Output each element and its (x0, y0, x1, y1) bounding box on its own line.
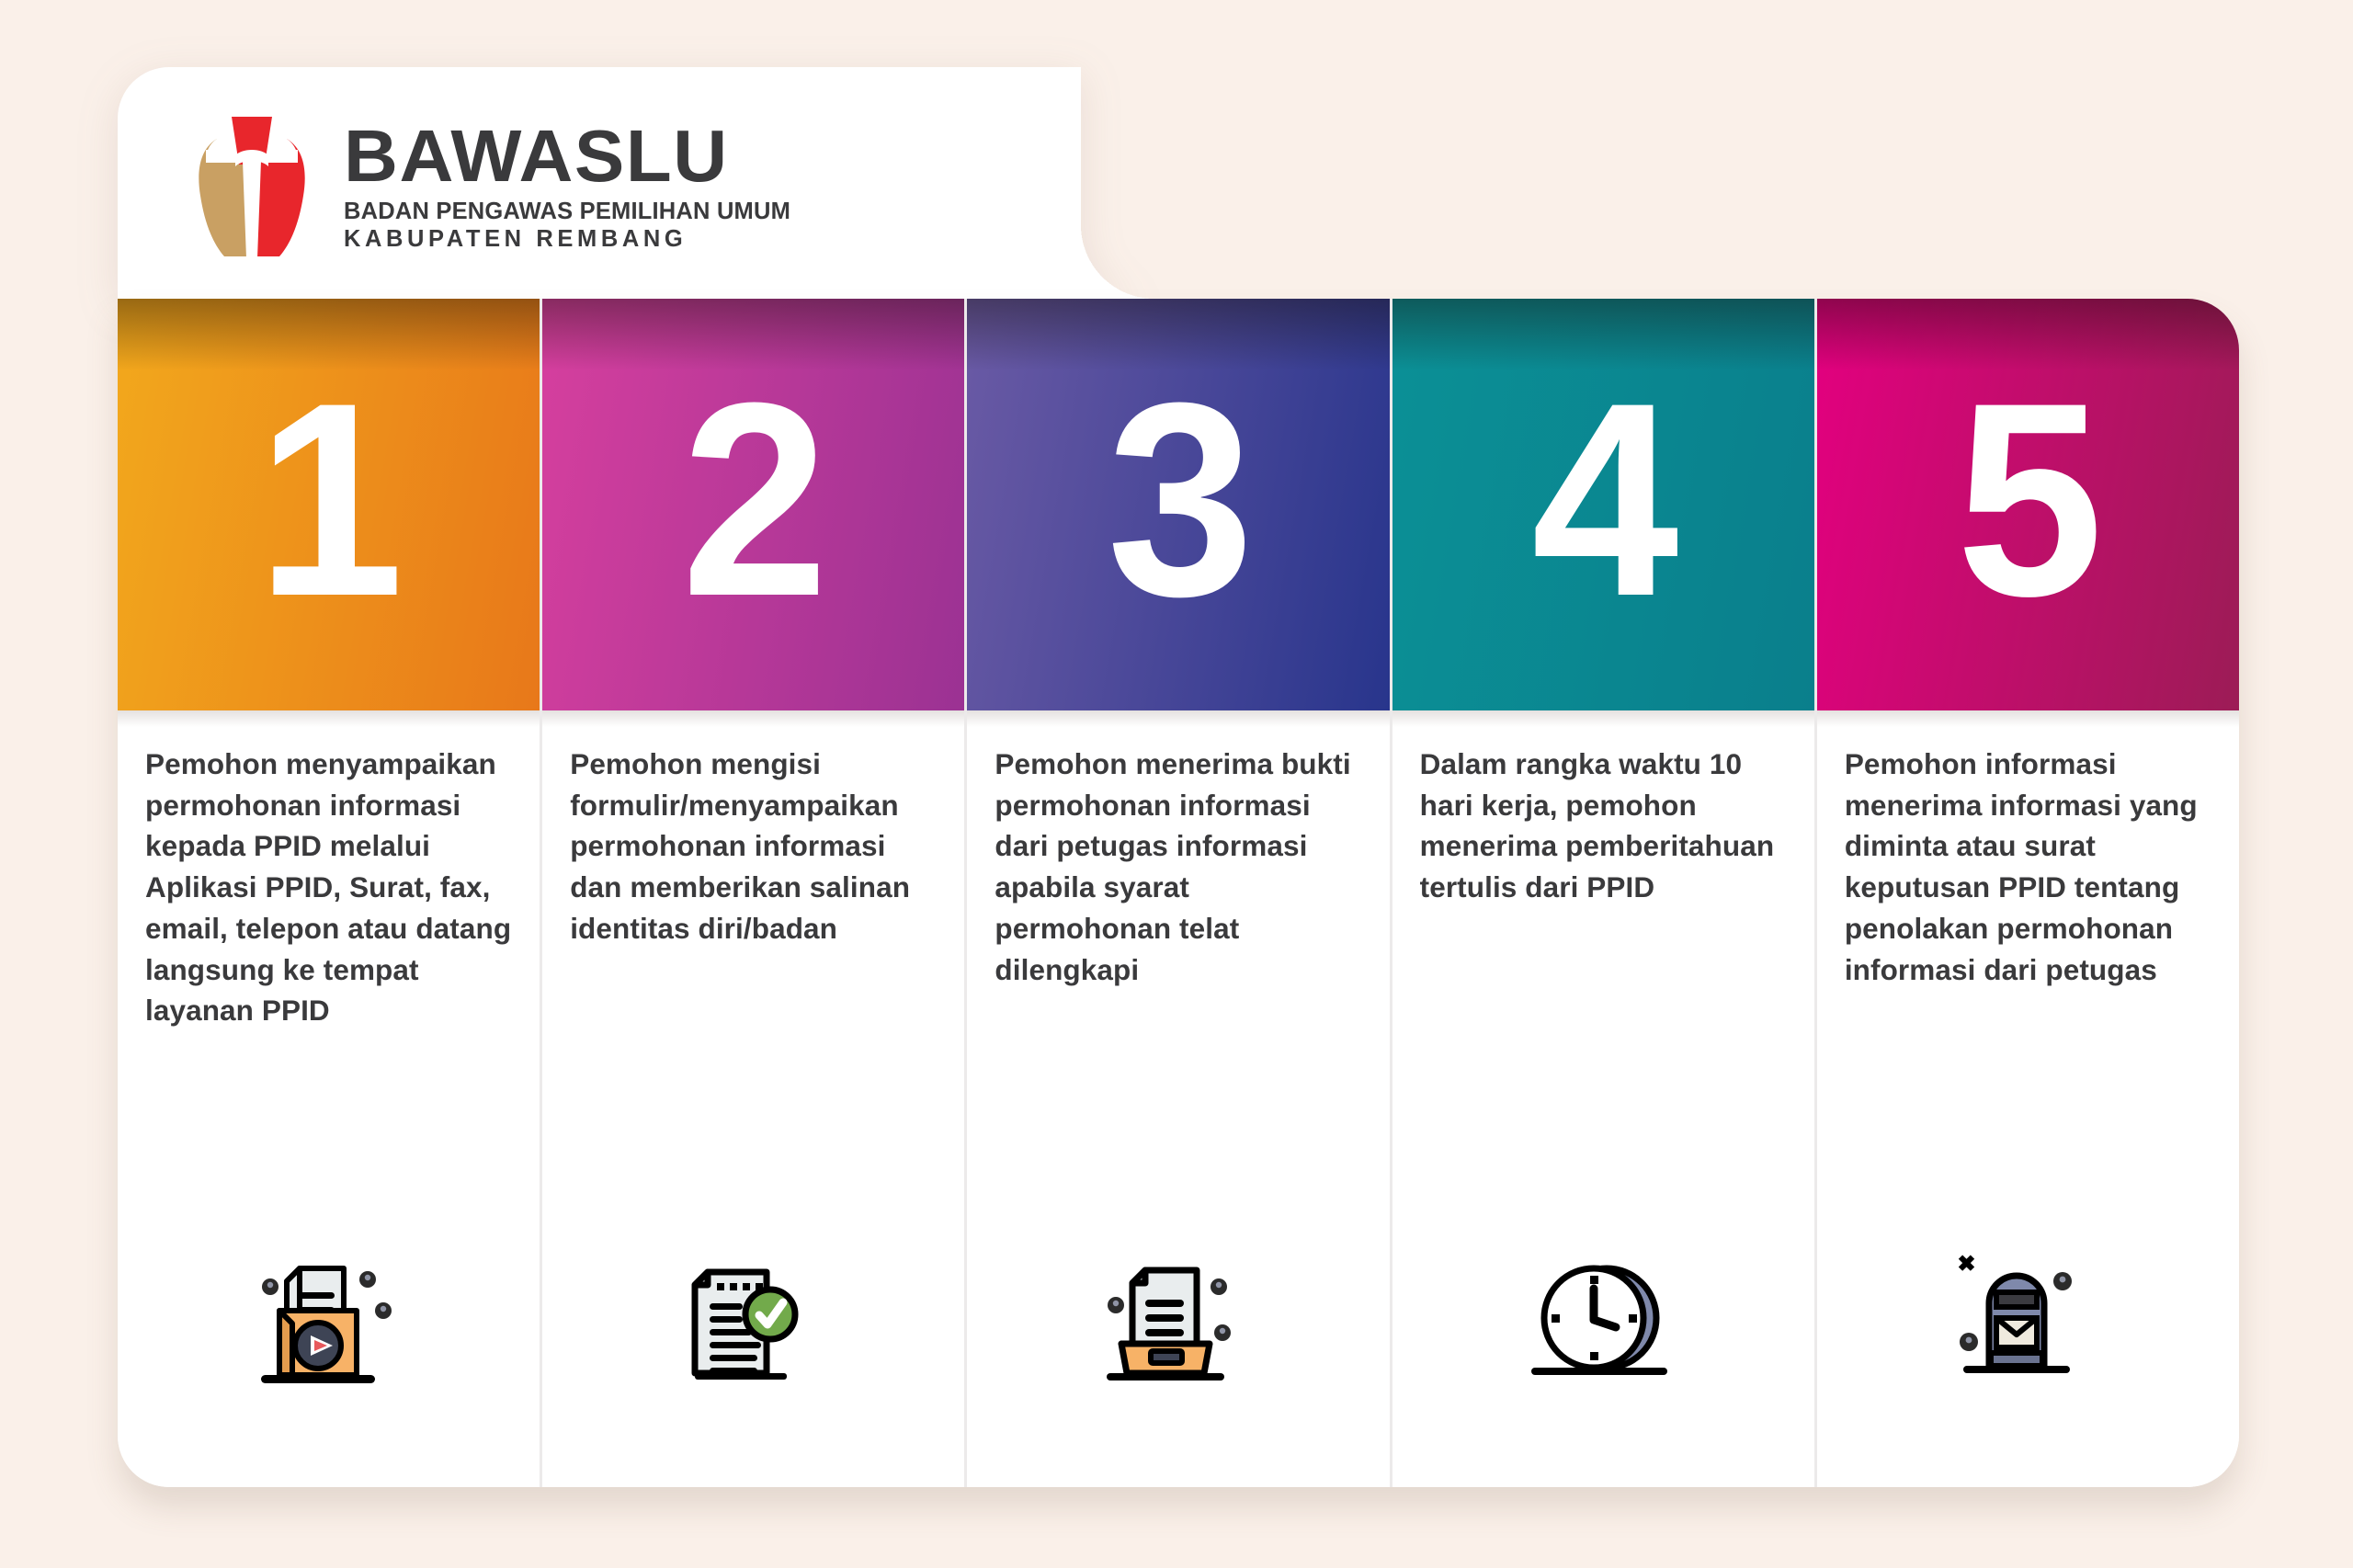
infographic-page: BAWASLU BADAN PENGAWAS PEMILIHAN UMUM KA… (0, 0, 2353, 1568)
step-number-5: 5 (1956, 361, 2099, 637)
logo-text-block: BAWASLU BADAN PENGAWAS PEMILIHAN UMUM KA… (344, 121, 790, 252)
step-number-1: 1 (256, 361, 400, 637)
bawaslu-logo: BAWASLU BADAN PENGAWAS PEMILIHAN UMUM KA… (184, 113, 790, 260)
document-check-icon (676, 1254, 831, 1392)
infographic-card: BAWASLU BADAN PENGAWAS PEMILIHAN UMUM KA… (118, 67, 2239, 1487)
step-column-5: 5 Pemohon informasi menerima informasi y… (1814, 299, 2239, 1487)
step-column-3: 3 Pemohon menerima bukti permohonan info… (964, 299, 1389, 1487)
steps-container: 1 Pemohon menyampaikan permohonan inform… (118, 299, 2239, 1487)
logo-subtitle-line2: KABUPATEN REMBANG (344, 226, 790, 252)
step-icon-wrap-2 (542, 1294, 964, 1487)
step-band-1: 1 (118, 299, 540, 710)
logo-subtitle-line1: BADAN PENGAWAS PEMILIHAN UMUM (344, 199, 790, 224)
step-number-3: 3 (1107, 361, 1250, 637)
step-text-3: Pemohon menerima bukti permohonan inform… (967, 710, 1389, 990)
step-band-2: 2 (542, 299, 964, 710)
step-number-4: 4 (1531, 361, 1675, 637)
clock-icon (1526, 1254, 1680, 1392)
step-column-2: 2 Pemohon mengisi formulir/menyampaikan … (540, 299, 964, 1487)
step-text-5: Pemohon informasi menerima informasi yan… (1817, 710, 2239, 990)
bawaslu-ballot-box-logo-icon (184, 113, 320, 260)
step-column-1: 1 Pemohon menyampaikan permohonan inform… (118, 299, 540, 1487)
logo-wordmark: BAWASLU (344, 121, 800, 192)
step-text-2: Pemohon mengisi formulir/menyampaikan pe… (542, 710, 964, 949)
step-text-4: Dalam rangka waktu 10 hari kerja, pemoho… (1392, 710, 1814, 908)
step-icon-wrap-4 (1392, 1294, 1814, 1487)
step-number-2: 2 (682, 361, 825, 637)
mailbox-letter-icon (1950, 1244, 2105, 1392)
step-band-5: 5 (1817, 299, 2239, 710)
step-band-4: 4 (1392, 299, 1814, 710)
step-icon-wrap-5 (1817, 1294, 2239, 1487)
ballot-box-document-icon (252, 1254, 406, 1392)
step-text-1: Pemohon menyampaikan permohonan informas… (118, 710, 540, 1031)
step-icon-wrap-1 (118, 1294, 540, 1487)
step-icon-wrap-3 (967, 1294, 1389, 1487)
step-band-3: 3 (967, 299, 1389, 710)
document-tray-icon (1101, 1254, 1256, 1392)
step-column-4: 4 Dalam rangka waktu 10 hari kerja, pemo… (1390, 299, 1814, 1487)
